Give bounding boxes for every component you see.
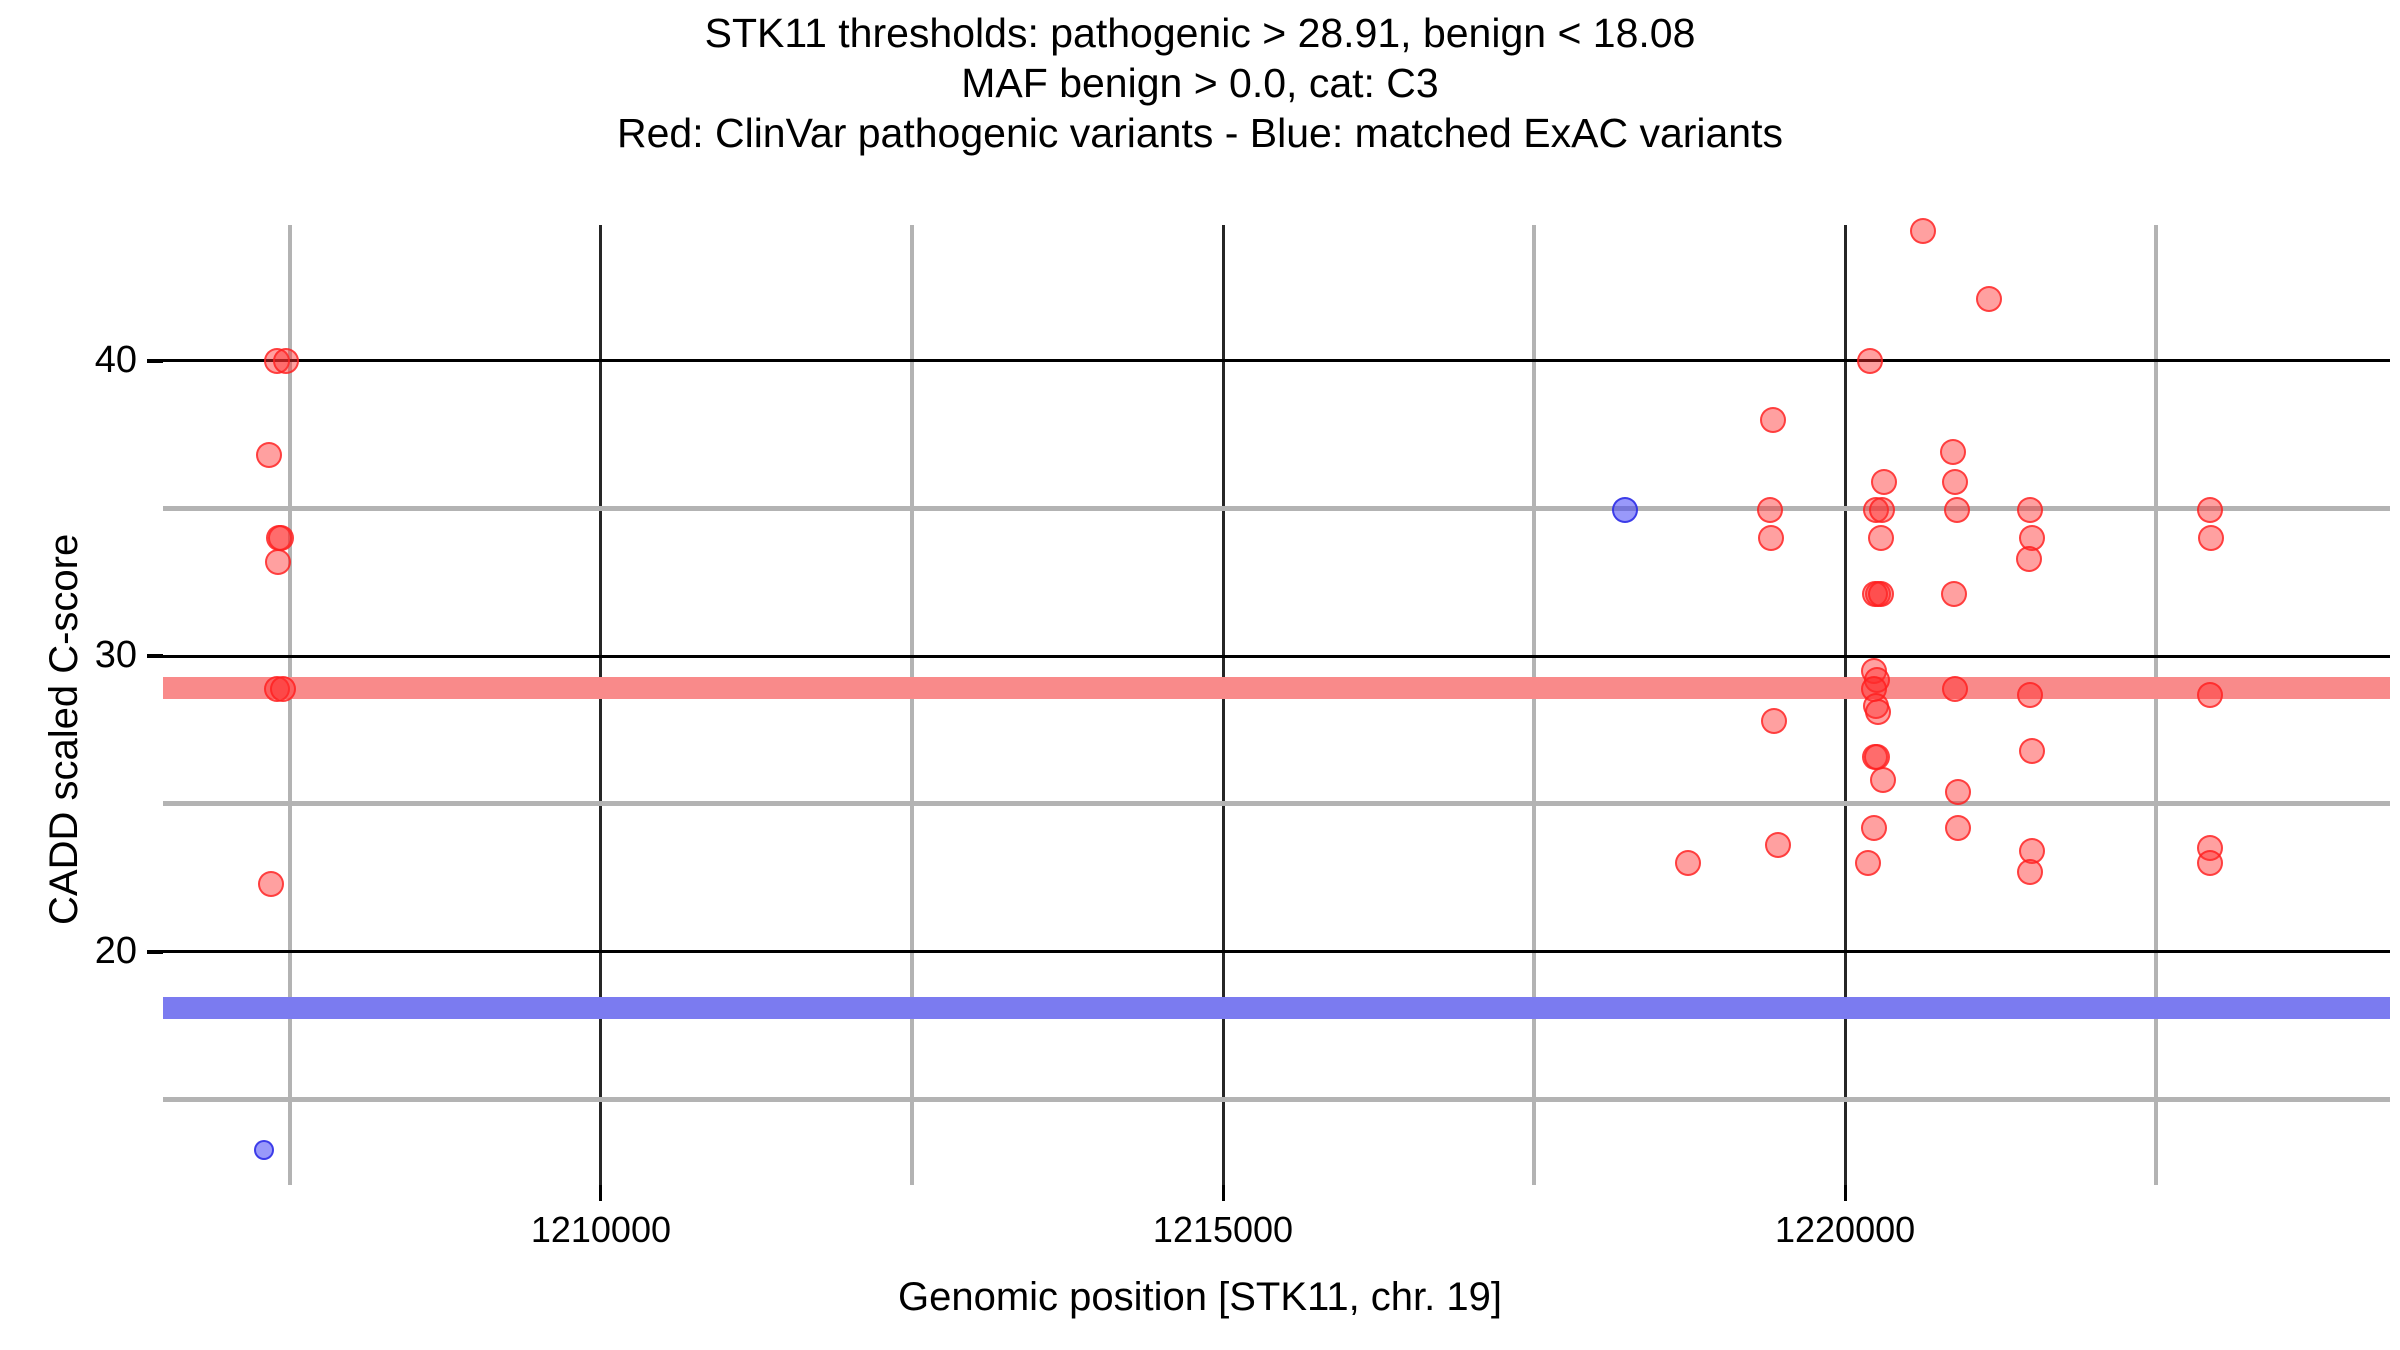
gridline-vertical-major xyxy=(1222,225,1225,1185)
gridline-horizontal-major xyxy=(163,359,2390,362)
data-point-clinvar xyxy=(1942,469,1968,495)
data-point-clinvar xyxy=(1857,348,1883,374)
x-tick-label: 1210000 xyxy=(451,1209,751,1251)
y-tick-mark xyxy=(147,950,163,954)
scatter-plot-figure: STK11 thresholds: pathogenic > 28.91, be… xyxy=(0,0,2400,1350)
data-point-clinvar xyxy=(1761,708,1787,734)
data-point-clinvar xyxy=(1976,286,2002,312)
data-point-clinvar xyxy=(1760,407,1786,433)
data-point-clinvar xyxy=(2198,525,2224,551)
data-point-clinvar xyxy=(258,871,284,897)
gridline-vertical-minor xyxy=(910,225,914,1185)
chart-title: STK11 thresholds: pathogenic > 28.91, be… xyxy=(0,8,2400,158)
pathogenic-threshold-band xyxy=(163,677,2390,699)
data-point-clinvar xyxy=(2019,738,2045,764)
plot-panel xyxy=(163,225,2390,1185)
y-axis-label: CADD scaled C-score xyxy=(42,534,87,925)
y-tick-label: 20 xyxy=(17,930,137,973)
title-line-2: MAF benign > 0.0, cat: C3 xyxy=(0,58,2400,108)
data-point-clinvar xyxy=(1864,744,1890,770)
x-tick-label: 1220000 xyxy=(1695,1209,1995,1251)
data-point-clinvar xyxy=(2197,850,2223,876)
data-point-exac xyxy=(254,1140,274,1160)
gridline-horizontal-minor xyxy=(163,1097,2390,1102)
data-point-clinvar xyxy=(1945,815,1971,841)
data-point-clinvar xyxy=(1865,699,1891,725)
benign-threshold-band xyxy=(163,997,2390,1019)
data-point-clinvar xyxy=(1757,497,1783,523)
data-point-clinvar xyxy=(1940,439,1966,465)
data-point-clinvar xyxy=(1868,525,1894,551)
data-point-clinvar xyxy=(1871,469,1897,495)
x-tick-mark xyxy=(599,1185,602,1201)
data-point-clinvar xyxy=(1855,850,1881,876)
title-line-1: STK11 thresholds: pathogenic > 28.91, be… xyxy=(0,8,2400,58)
x-axis-label: Genomic position [STK11, chr. 19] xyxy=(0,1275,2400,1320)
data-point-clinvar xyxy=(1944,497,1970,523)
x-tick-mark xyxy=(1844,1185,1847,1201)
gridline-horizontal-minor xyxy=(163,801,2390,806)
data-point-clinvar xyxy=(1870,767,1896,793)
gridline-vertical-minor xyxy=(2154,225,2158,1185)
x-tick-label: 1215000 xyxy=(1073,1209,1373,1251)
data-point-exac xyxy=(1612,497,1638,523)
gridline-vertical-major xyxy=(599,225,602,1185)
x-tick-mark xyxy=(1222,1185,1225,1201)
y-tick-label: 40 xyxy=(17,339,137,382)
data-point-clinvar xyxy=(2017,682,2043,708)
data-point-clinvar xyxy=(1869,497,1895,523)
title-line-3: Red: ClinVar pathogenic variants - Blue:… xyxy=(0,108,2400,158)
data-point-clinvar xyxy=(1941,581,1967,607)
y-tick-mark xyxy=(147,654,163,658)
data-point-clinvar xyxy=(1861,815,1887,841)
data-point-clinvar xyxy=(1765,832,1791,858)
data-point-clinvar xyxy=(1910,218,1936,244)
data-point-clinvar xyxy=(265,549,291,575)
gridline-horizontal-major xyxy=(163,950,2390,953)
data-point-clinvar xyxy=(2017,497,2043,523)
data-point-clinvar xyxy=(2197,682,2223,708)
gridline-vertical-major xyxy=(1844,225,1847,1185)
data-point-clinvar xyxy=(2197,497,2223,523)
data-point-clinvar xyxy=(1675,850,1701,876)
data-point-clinvar xyxy=(1758,525,1784,551)
data-point-clinvar xyxy=(1942,676,1968,702)
data-point-clinvar xyxy=(2017,859,2043,885)
gridline-vertical-minor xyxy=(1532,225,1536,1185)
data-point-clinvar xyxy=(273,348,299,374)
data-point-clinvar xyxy=(270,676,296,702)
gridline-horizontal-major xyxy=(163,655,2390,658)
gridline-horizontal-minor xyxy=(163,506,2390,511)
data-point-clinvar xyxy=(256,442,282,468)
y-tick-mark xyxy=(147,359,163,363)
data-point-clinvar xyxy=(2016,546,2042,572)
data-point-clinvar xyxy=(1868,581,1894,607)
